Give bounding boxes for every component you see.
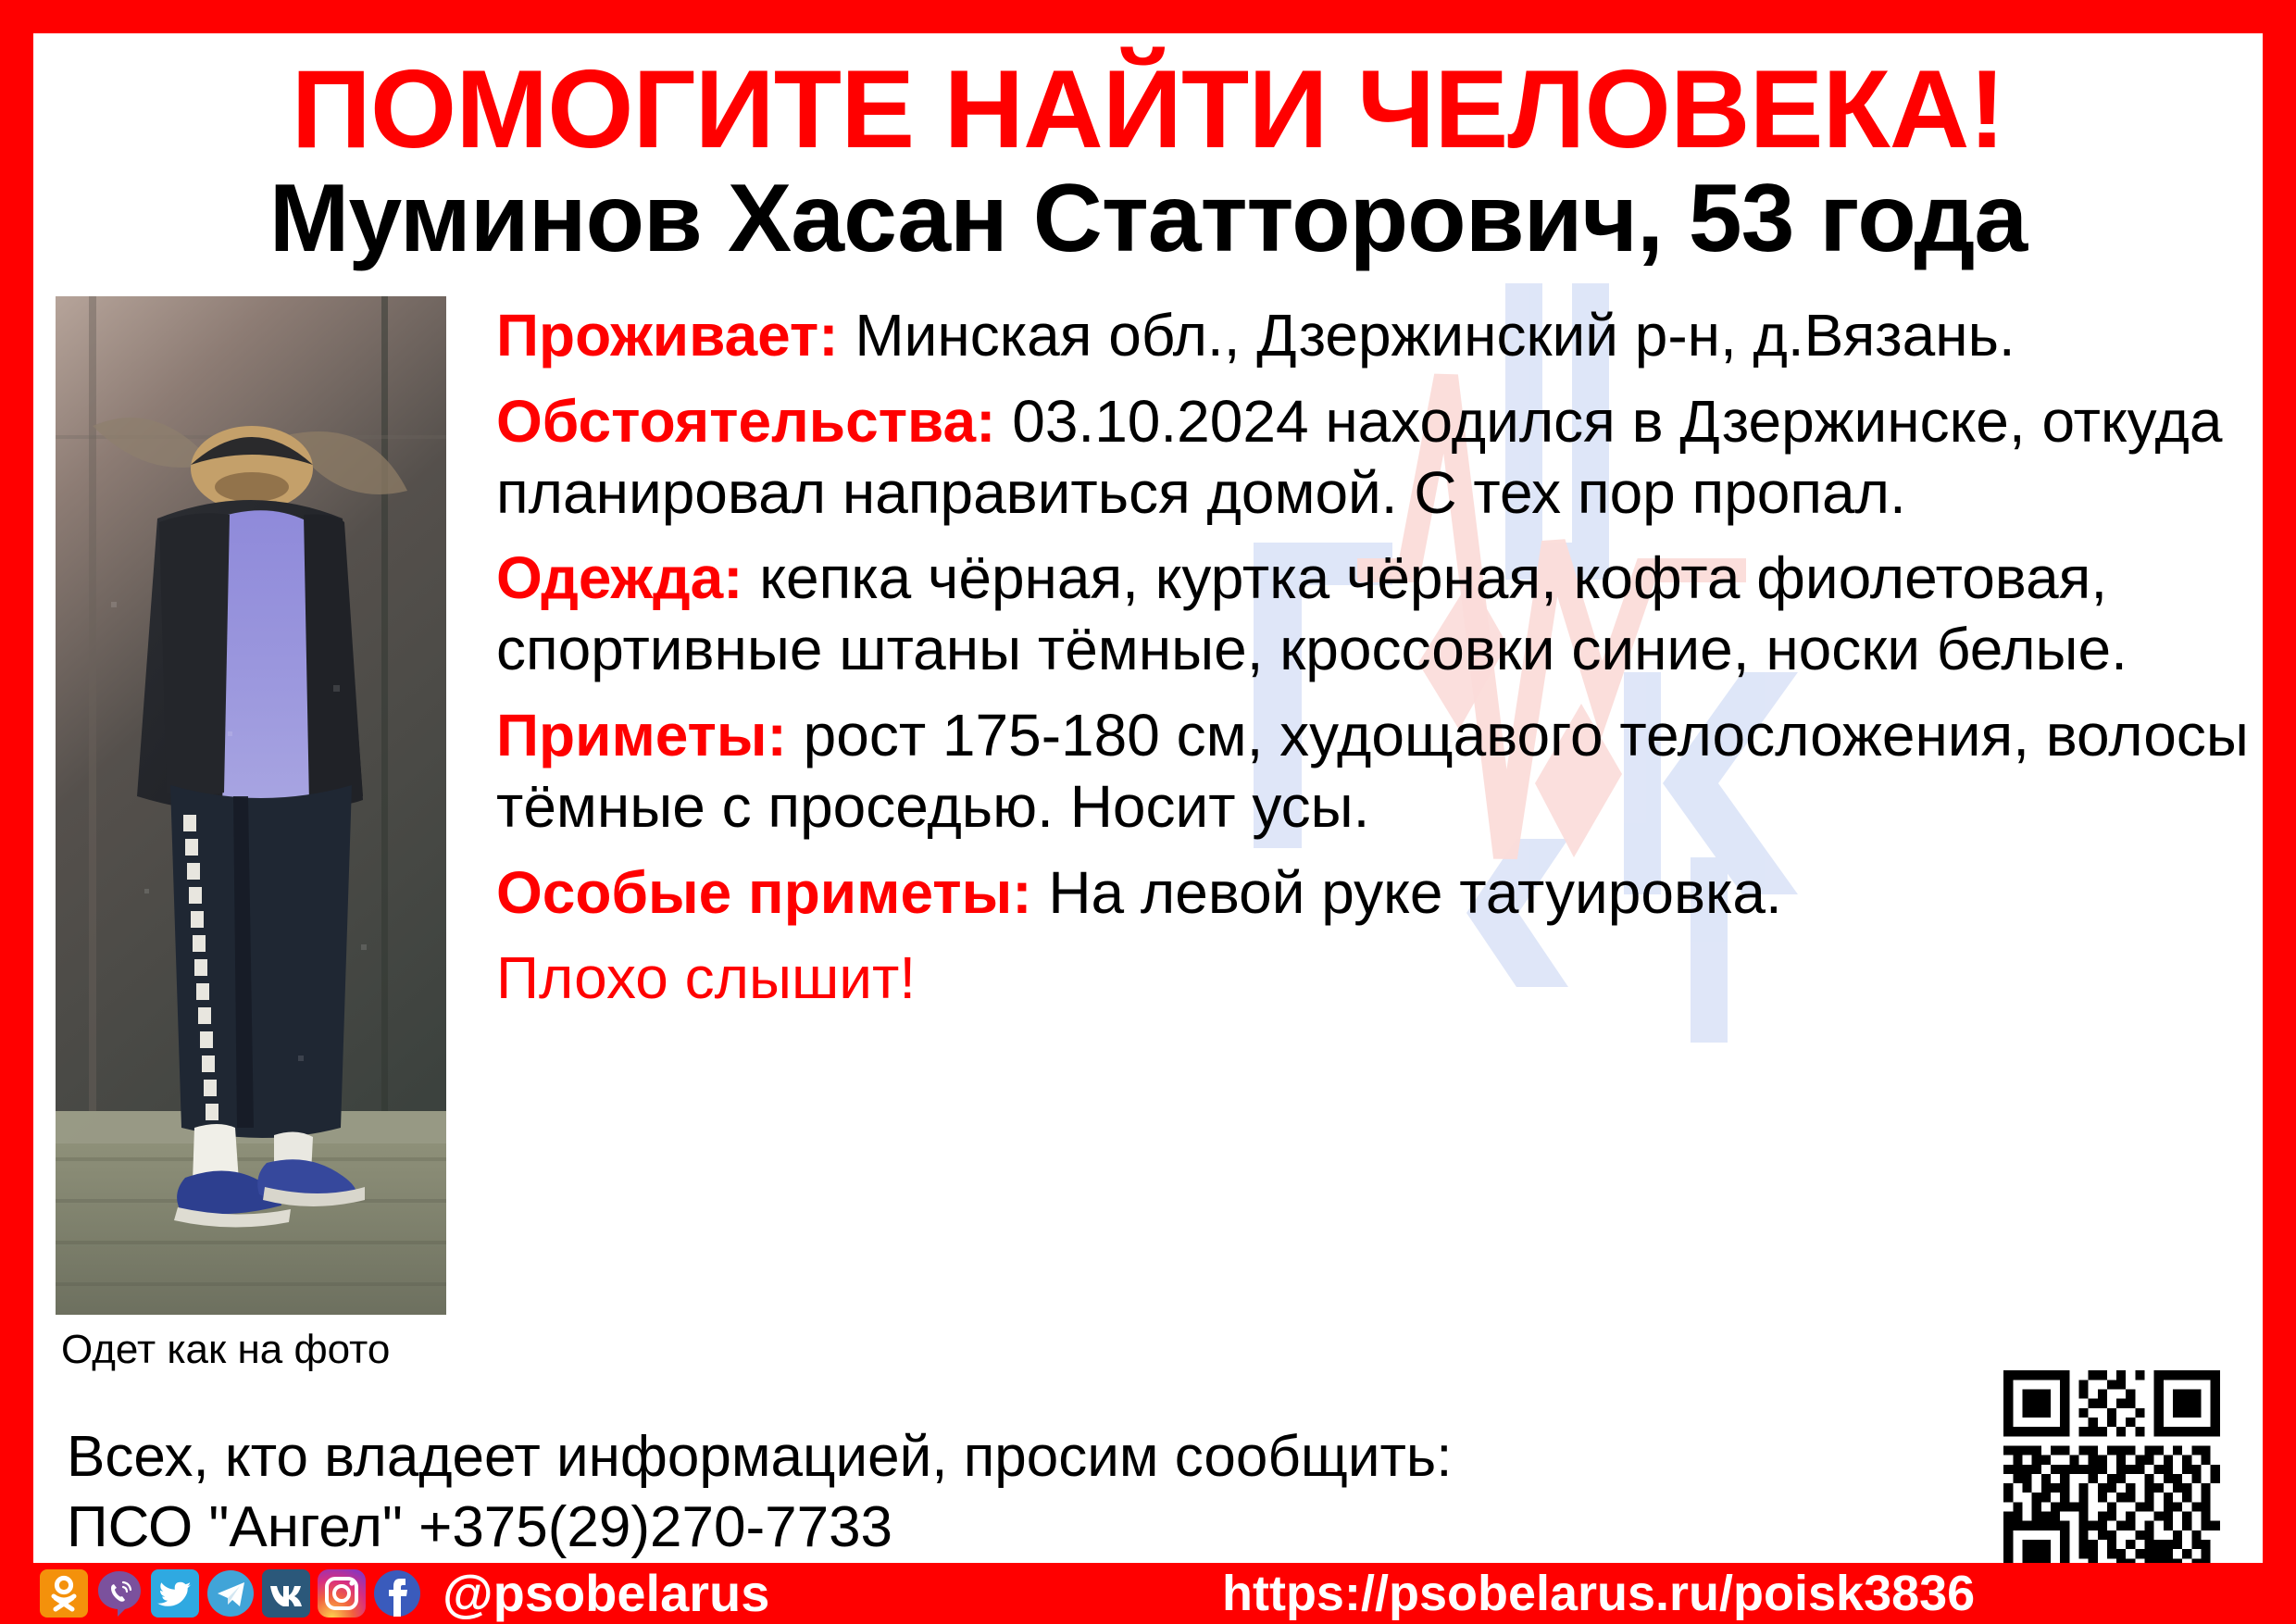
detail-row-appearance: Приметы: рост 175-180 см, худощавого тел… [496,700,2255,843]
detail-value-residence: Минская обл., Дзержинский р-н, д.Вязань. [839,302,2015,369]
detail-row-alert: Плохо слышит! [496,943,2255,1014]
contact-call-to-action: Всех, кто владеет информацией, просим со… [67,1422,1733,1493]
detail-row-clothing: Одежда: кепка чёрная, куртка чёрная, коф… [496,543,2255,685]
detail-row-residence: Проживает: Минская обл., Дзержинский р-н… [496,300,2255,371]
detail-label-special-marks: Особые приметы: [496,859,1032,926]
qr-code[interactable] [1994,1361,2229,1565]
contact-phone: ПСО "Ангел" +375(29)270-7733 [67,1493,1733,1563]
photo-block: Одет как на фото [56,296,463,1372]
poster-headline: ПОМОГИТЕ НАЙТИ ЧЕЛОВЕКА! [57,54,2239,165]
poster-inner-panel: ПОМОГИТЕ НАЙТИ ЧЕЛОВЕКА! Муминов Хасан С… [33,33,2263,1565]
instagram-icon[interactable] [317,1568,367,1618]
detail-row-circumstances: Обстоятельства: 03.10.2024 находился в Д… [496,386,2255,529]
detail-label-residence: Проживает: [496,302,839,369]
website-url[interactable]: https://psobelarus.ru/poisk3836 [1222,1568,1975,1618]
telegram-icon[interactable] [206,1568,256,1618]
detail-label-clothing: Одежда: [496,544,742,611]
detail-row-special-marks: Особые приметы: На левой руке татуировка… [496,857,2255,929]
contact-block: Всех, кто владеет информацией, просим со… [67,1422,1733,1562]
twitter-icon[interactable] [150,1568,200,1618]
viber-icon[interactable] [94,1568,144,1618]
hearing-alert-note: Плохо слышит! [496,944,916,1011]
social-handle[interactable]: @psobelarus [443,1568,769,1619]
photo-caption: Одет как на фото [56,1328,463,1372]
vk-icon[interactable] [261,1568,311,1618]
footer-bar: @psobelarus https://psobelarus.ru/poisk3… [0,1563,2296,1624]
missing-person-poster: ПОМОГИТЕ НАЙТИ ЧЕЛОВЕКА! Муминов Хасан С… [0,0,2296,1624]
person-photo [56,296,446,1315]
detail-value-special-marks: На левой руке татуировка. [1032,859,1782,926]
facebook-icon[interactable] [372,1568,422,1618]
detail-label-appearance: Приметы: [496,702,787,768]
odnoklassniki-icon[interactable] [39,1568,89,1618]
person-name-age: Муминов Хасан Статторович, 53 года [57,170,2239,267]
detail-label-circumstances: Обстоятельства: [496,388,995,455]
social-links: @psobelarus [39,1568,769,1619]
description-block: Проживает: Минская обл., Дзержинский р-н… [496,300,2255,1029]
